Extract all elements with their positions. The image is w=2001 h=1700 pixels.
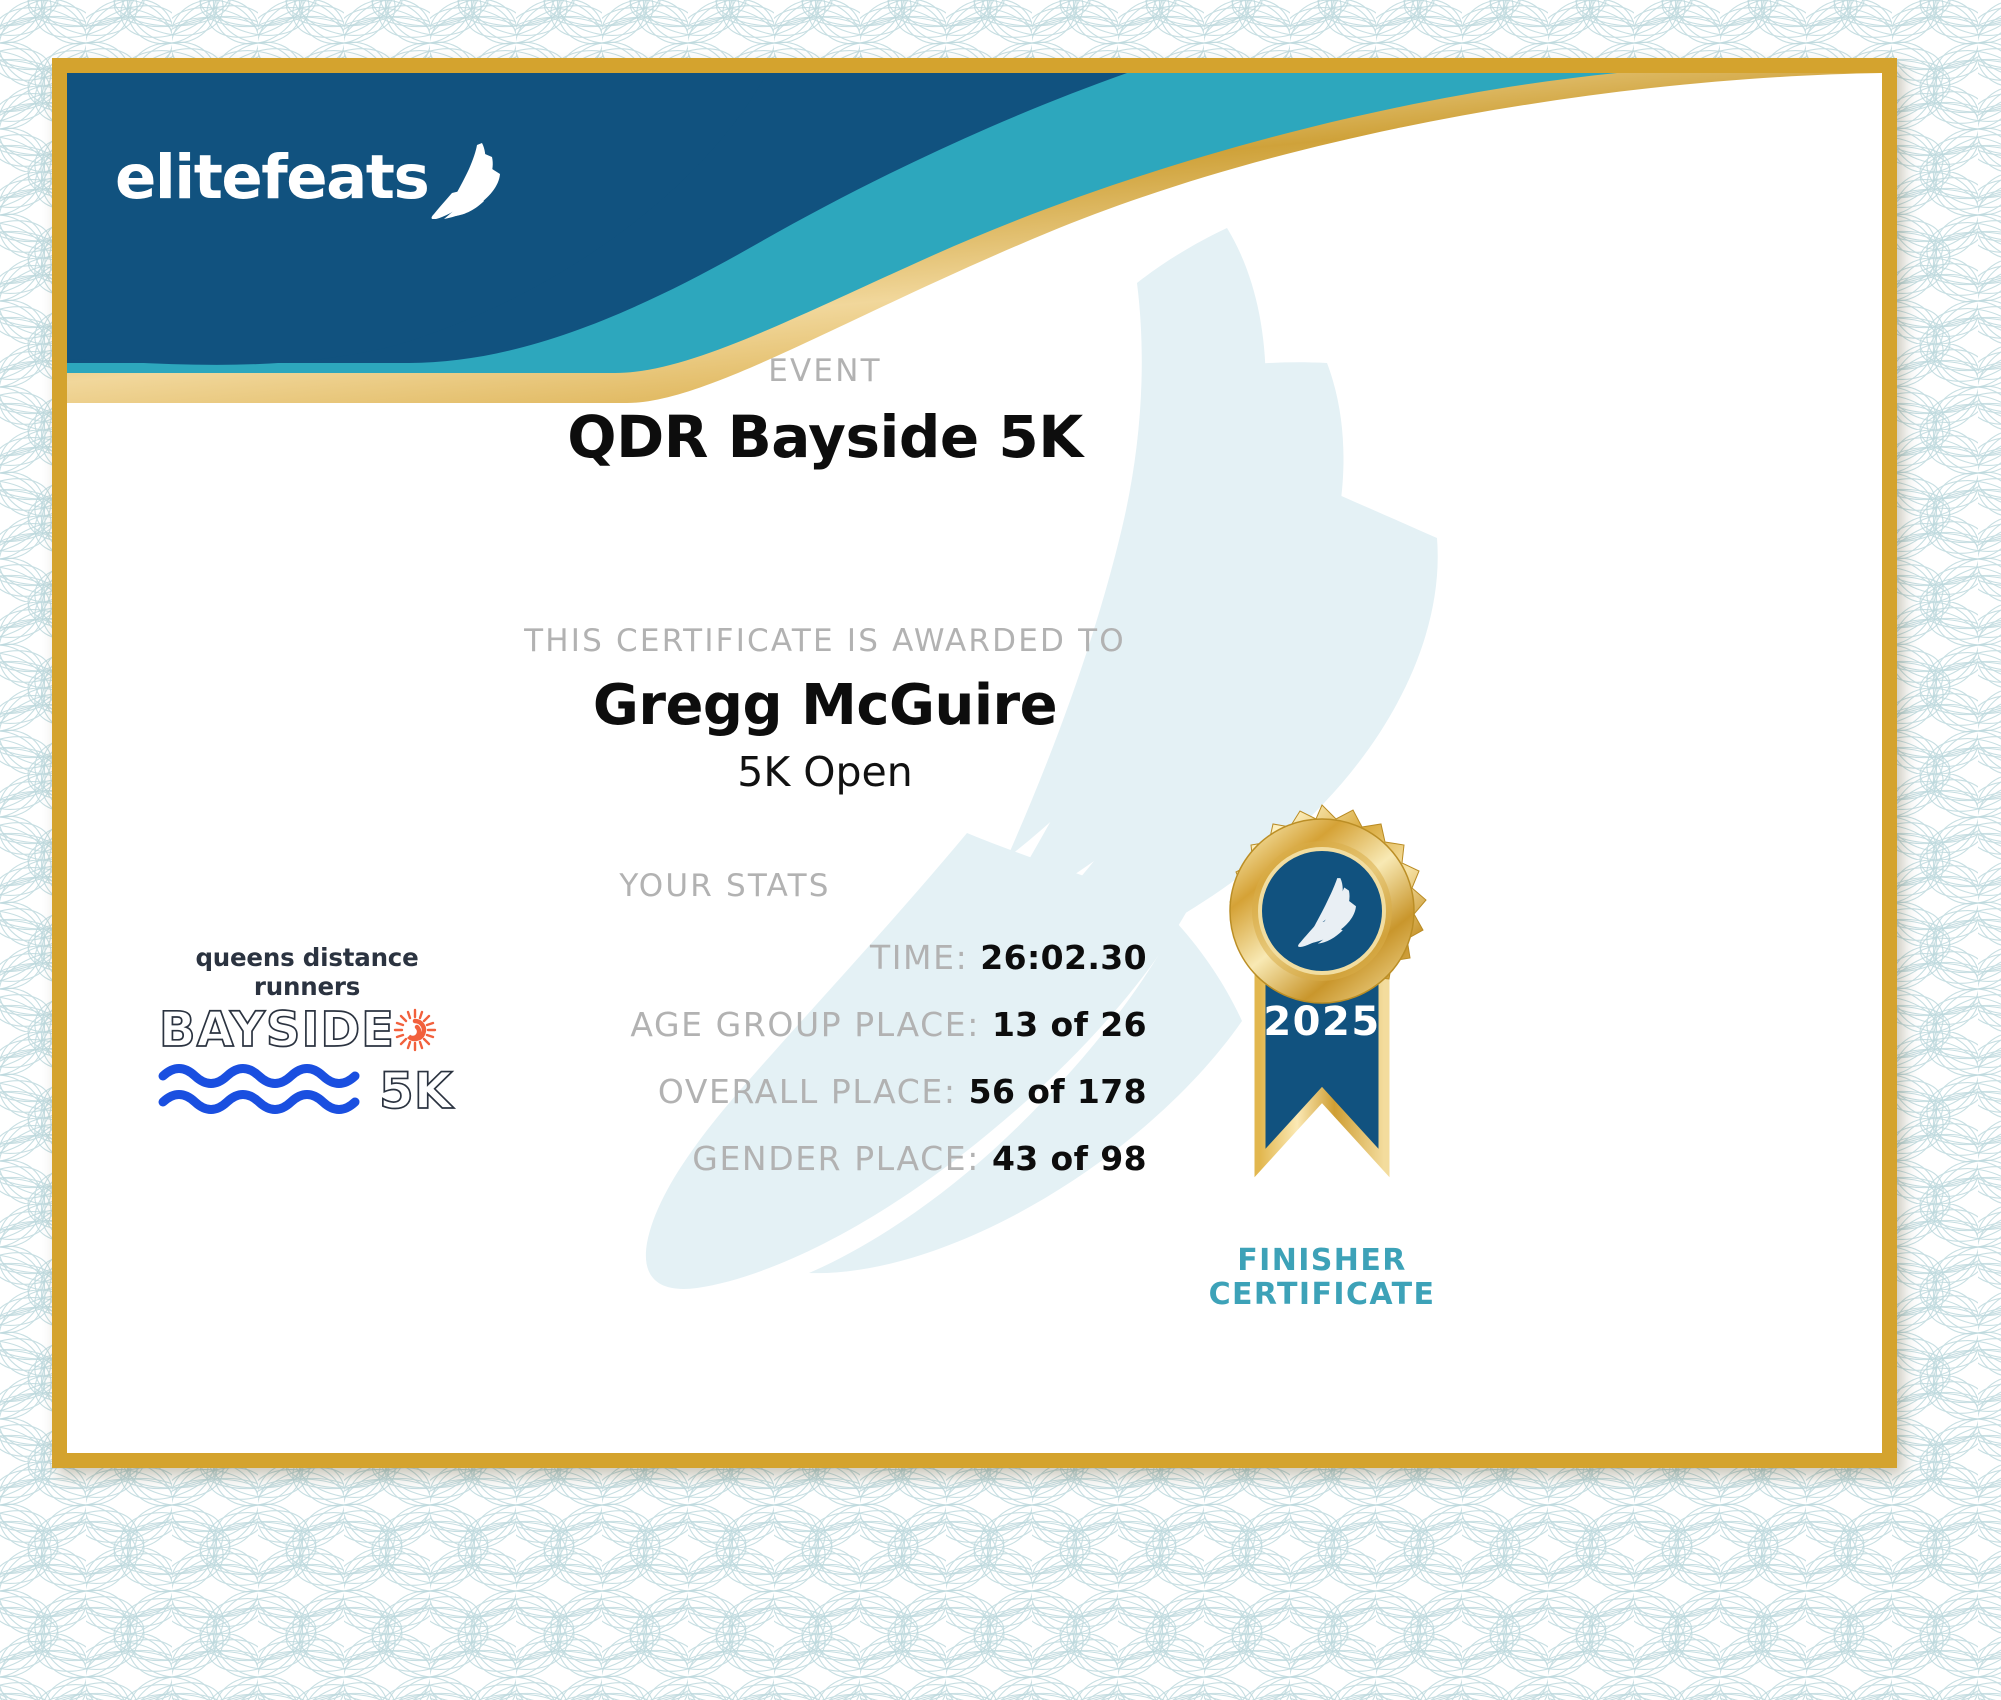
- winged-foot-icon: [430, 141, 502, 219]
- stat-row-gender-place: GENDER PLACE: 43 of 98: [347, 1139, 1147, 1178]
- certificate-frame: elitefeats EVENT QDR Bayside 5K THIS CER…: [52, 58, 1897, 1468]
- stat-key: TIME:: [870, 938, 968, 977]
- certificate-content: EVENT QDR Bayside 5K THIS CERTIFICATE IS…: [67, 73, 1882, 1453]
- event-logo-art: BAYSIDE: [157, 1004, 457, 1114]
- svg-text:5K: 5K: [379, 1062, 455, 1114]
- sun-icon: [395, 1010, 435, 1050]
- stat-value: 26:02.30: [980, 938, 1147, 977]
- medal-art: 2025: [1202, 803, 1442, 1233]
- stats-table: TIME: 26:02.30 AGE GROUP PLACE: 13 of 26…: [347, 938, 1147, 1206]
- stat-value: 56 of 178: [969, 1072, 1147, 1111]
- medal-year: 2025: [1263, 999, 1380, 1045]
- medal-caption-line1: FINISHER: [1202, 1244, 1442, 1278]
- recipient-name: Gregg McGuire: [425, 673, 1225, 738]
- certificate: elitefeats EVENT QDR Bayside 5K THIS CER…: [0, 0, 2001, 1700]
- medal-caption-line2: CERTIFICATE: [1202, 1278, 1442, 1312]
- elitefeats-logo: elitefeats: [115, 135, 502, 219]
- stat-key: OVERALL PLACE:: [658, 1072, 957, 1111]
- svg-text:BAYSIDE: BAYSIDE: [159, 1004, 395, 1058]
- medal-disc: [1230, 805, 1426, 1003]
- brand-wordmark: elitefeats: [115, 142, 428, 213]
- stat-value: 13 of 26: [992, 1005, 1147, 1044]
- event-label: EVENT: [525, 353, 1125, 389]
- event-logo-org: queens distance runners: [157, 943, 457, 1001]
- event-logo: queens distance runners BAYSIDE: [157, 943, 457, 1119]
- medal-caption: FINISHER CERTIFICATE: [1202, 1244, 1442, 1311]
- awarded-to-label: THIS CERTIFICATE IS AWARDED TO: [425, 623, 1225, 659]
- stat-row-time: TIME: 26:02.30: [347, 938, 1147, 977]
- stat-value: 43 of 98: [992, 1139, 1147, 1178]
- stat-key: AGE GROUP PLACE:: [630, 1005, 980, 1044]
- event-name: QDR Bayside 5K: [425, 403, 1225, 471]
- stat-row-overall-place: OVERALL PLACE: 56 of 178: [347, 1072, 1147, 1111]
- finisher-medal: 2025: [1202, 803, 1442, 1311]
- waves-icon: [163, 1069, 355, 1110]
- stat-row-age-group-place: AGE GROUP PLACE: 13 of 26: [347, 1005, 1147, 1044]
- division-name: 5K Open: [425, 748, 1225, 796]
- stats-label: YOUR STATS: [425, 868, 1025, 904]
- stat-key: GENDER PLACE:: [692, 1139, 980, 1178]
